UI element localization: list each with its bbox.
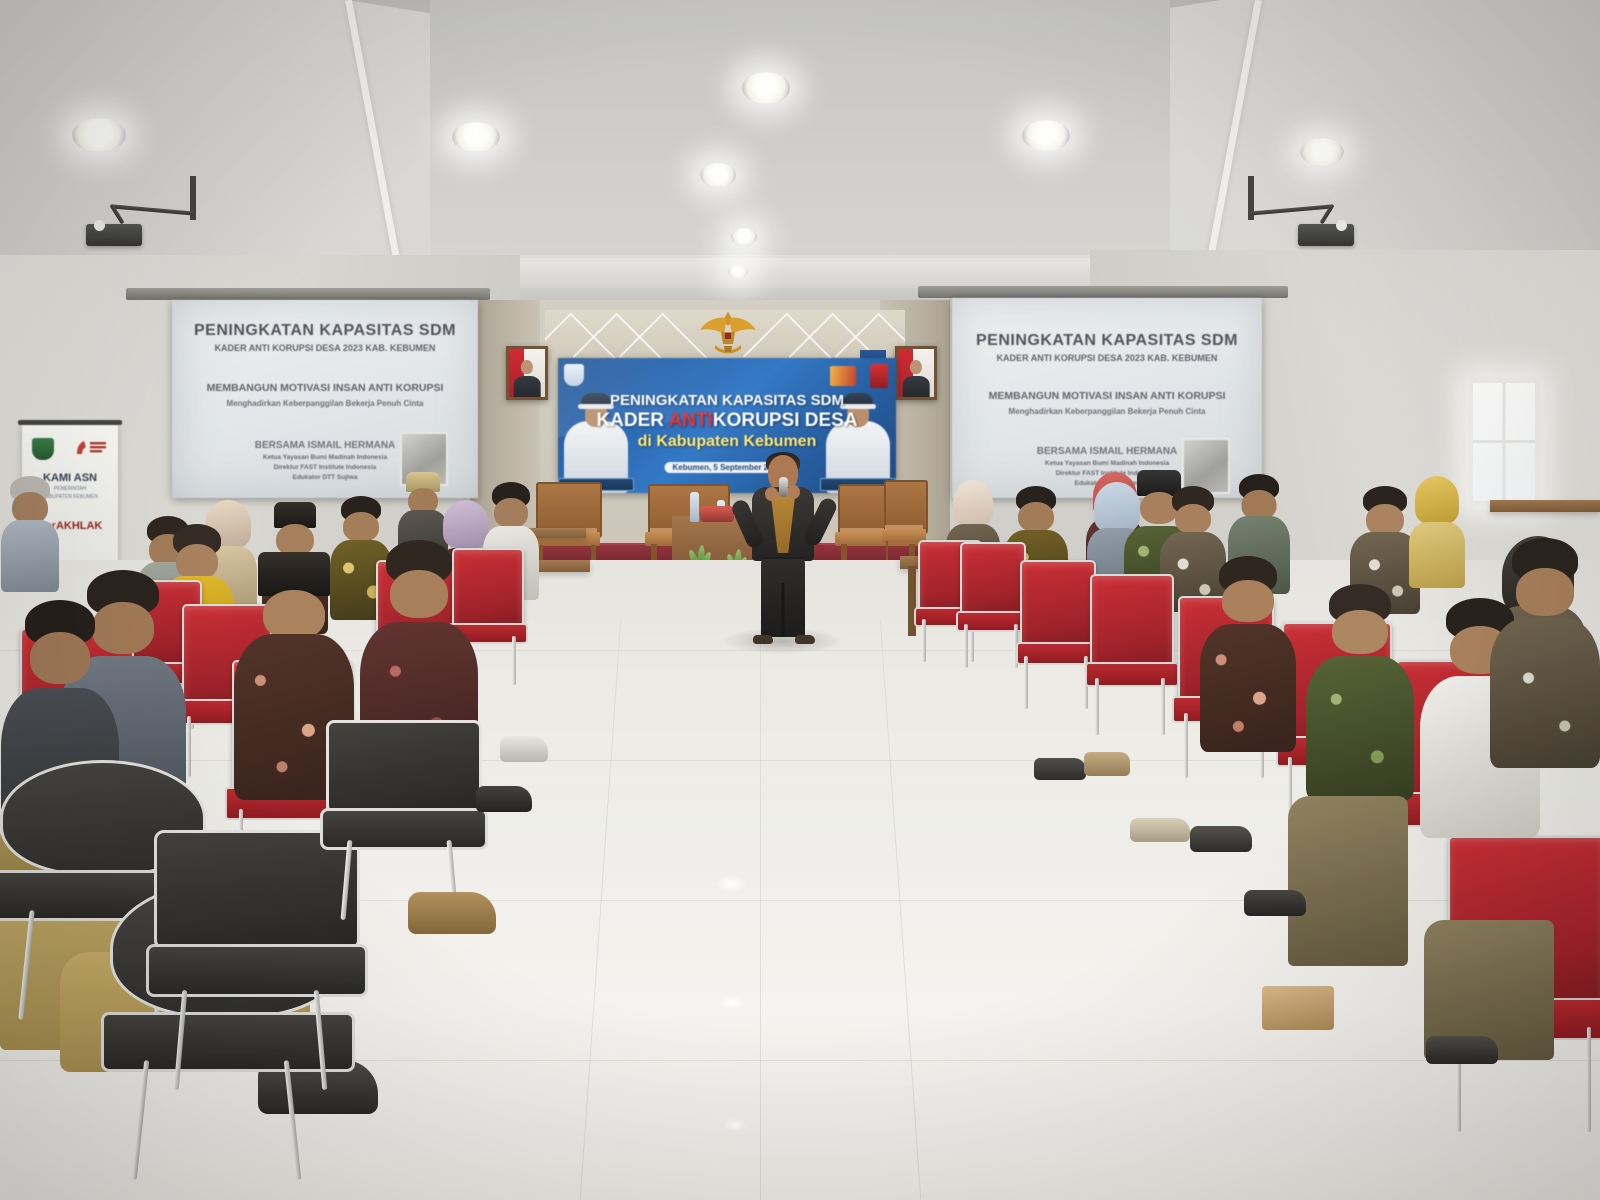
banner-logo-kpk [870,364,888,388]
sandal [1034,758,1086,780]
audience-person [1200,556,1296,752]
floor-light-reflection [718,995,746,1010]
slide-subheading: KADER ANTI KORUPSI DESA 2023 KAB. KEBUME… [172,343,478,353]
audience-person [1490,538,1600,768]
slide-heading: PENINGKATAN KAPASITAS SDM [952,332,1262,350]
shoe [1244,890,1306,916]
audience-person-legs [1288,796,1408,966]
audience-person [1306,584,1414,800]
rollup-logo-kebumen [32,438,54,460]
downlight [742,72,790,104]
slide-tagline: Menghadirkan Keberpanggilan Bekerja Penu… [172,399,478,408]
audience-chair[interactable] [960,542,1022,666]
folding-chair[interactable] [154,830,354,1090]
photo-canvas: PENINGKATAN KAPASITAS SDM KADER ANTIKORU… [0,0,1600,1200]
speaker-hand-left [765,487,778,501]
screen-housing-right [918,286,1288,298]
rollup-logo-text [74,438,108,458]
folding-chair[interactable] [326,720,476,920]
slide-topic: MEMBANGUN MOTIVASI INSAN ANTI KORUPSI [952,390,1262,402]
window [1468,378,1540,506]
sneaker [500,736,548,762]
screen-left: PENINGKATAN KAPASITAS SDM KADER ANTI KOR… [172,300,478,498]
banner-title-line3: di Kabupaten Kebumen [558,433,896,451]
floor-light-reflection [722,1118,748,1132]
shoe [1190,826,1252,852]
speaker-shoe-right [795,635,815,644]
slide-topic: MEMBANGUN MOTIVASI INSAN ANTI KORUPSI [172,382,478,394]
banner-logo-kebumen [564,364,584,386]
slide-tagline: Menghadirkan Keberpanggilan Bekerja Penu… [952,407,1262,416]
speaker-hand-right [787,485,800,499]
sandal [1130,818,1190,842]
banner-title-line1: PENINGKATAN KAPASITAS SDM [558,392,896,409]
slide-heading: PENINGKATAN KAPASITAS SDM [172,322,478,340]
projector-lens [94,220,105,231]
projector-arm [112,204,194,215]
microphone-icon [779,477,788,497]
audience-person [1408,476,1466,588]
shoe [476,786,532,812]
banner-title-anti: ANTI [669,410,713,431]
banner-logo-partner [830,366,856,386]
audience-chair[interactable] [1020,560,1092,706]
projector-right [1236,176,1366,256]
projector-left [78,176,208,256]
rollup-brand-b: AKHLAK [56,520,102,532]
screen-housing-left [126,288,490,300]
event-banner: PENINGKATAN KAPASITAS SDM KADER ANTIKORU… [558,358,896,493]
shoe [1426,1036,1498,1064]
speaker-trousers [761,559,805,637]
shoe [408,892,496,934]
side-desk [1490,500,1600,512]
downlight [731,228,757,245]
portrait-right [895,346,937,400]
downlight [452,122,500,152]
floor-light-reflection [714,875,748,893]
water-bottle [690,492,699,522]
window-mullion-horizontal [1473,440,1535,443]
banner-title-line2-c: KORUPSI DESA [713,410,858,431]
audience-chair[interactable] [1090,574,1170,732]
banner-title-line2-a: KADER [596,410,668,431]
garuda-pancasila-icon [697,306,759,356]
wooden-block [1262,986,1334,1030]
downlight [700,163,736,187]
speaker [735,455,831,650]
projector-arm [1250,204,1332,215]
flower-arrangement [700,506,734,522]
projector-lens [1336,220,1347,231]
audience-person [0,476,60,592]
rollup-top-bar [18,420,122,425]
downlight [1022,120,1070,151]
portrait-left [506,346,548,400]
downlight [1300,138,1344,166]
screen-right: PENINGKATAN KAPASITAS SDM KADER ANTI KOR… [952,298,1262,498]
speaker-jacket [752,487,814,561]
sandal [1084,752,1130,776]
downlight [72,118,126,152]
slide-subheading: KADER ANTI KORUPSI DESA 2023 KAB. KEBUME… [952,353,1262,363]
speaker-shoe-left [753,635,773,644]
downlight [728,265,748,278]
